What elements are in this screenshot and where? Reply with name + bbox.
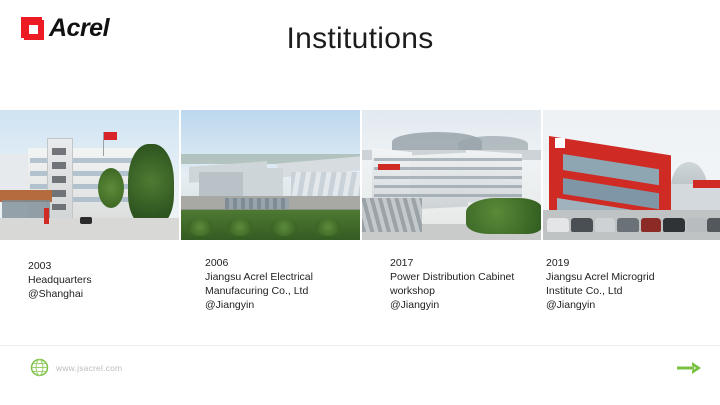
milestone-year: 2006 (205, 256, 375, 270)
milestone-caption-2017: 2017 Power Distribution Cabinet workshop… (390, 256, 550, 312)
milestone-caption-2019: 2019 Jiangsu Acrel Microgrid Institute C… (546, 256, 711, 312)
milestone-name-line2: Institute Co., Ltd (546, 284, 711, 298)
milestone-location: @Jiangyin (205, 298, 375, 312)
milestone-photo-2019 (543, 110, 720, 240)
footer-divider (0, 345, 720, 346)
milestone-caption-2006: 2006 Jiangsu Acrel Electrical Manufacuri… (205, 256, 375, 312)
milestone-location: @Jiangyin (390, 298, 550, 312)
footer-website[interactable]: www.jsacrel.com (30, 358, 122, 377)
milestone-photo-2003 (0, 110, 179, 240)
footer-url-text: www.jsacrel.com (56, 363, 122, 373)
milestone-name-line1: Jiangsu Acrel Electrical (205, 270, 375, 284)
milestone-name-line2: workshop (390, 284, 550, 298)
milestone-year: 2003 (28, 259, 193, 273)
milestone-location: @Jiangyin (546, 298, 711, 312)
arrow-right-icon[interactable] (676, 360, 702, 376)
milestone-name-line1: Power Distribution Cabinet (390, 270, 550, 284)
milestone-year: 2019 (546, 256, 711, 270)
milestone-captions: 2003 Headquarters @Shanghai 2006 Jiangsu… (0, 256, 720, 326)
milestone-location: @Shanghai (28, 287, 193, 301)
milestone-photo-2006 (181, 110, 360, 240)
milestone-name-line1: Jiangsu Acrel Microgrid (546, 270, 711, 284)
milestone-name-line1: Headquarters (28, 273, 193, 287)
photo-band (0, 110, 720, 240)
milestone-year: 2017 (390, 256, 550, 270)
globe-icon (30, 358, 49, 377)
milestone-caption-2003: 2003 Headquarters @Shanghai (28, 259, 193, 301)
page-title: Institutions (0, 22, 720, 56)
milestone-name-line2: Manufacuring Co., Ltd (205, 284, 375, 298)
milestone-photo-2017 (362, 110, 541, 240)
